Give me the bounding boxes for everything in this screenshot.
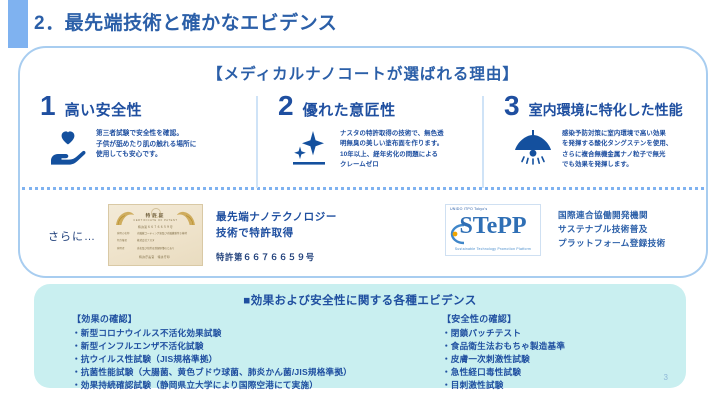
reason-2-body: ナスタの特許取得の技術で、無色透明無臭の美しい塗布面を作ります。10年以上、経年…: [264, 129, 478, 171]
reason-1-text: 第三者試験で安全性を確認。子供が舐めたり肌の触れる場所に使用しても安心です。: [96, 129, 196, 161]
further-label: さらに…: [48, 228, 96, 244]
certificate-row-value: 光触媒コーティング液及び光触媒膜付き基材: [137, 232, 194, 236]
unido-registration-text: 国際連合協働開発機関サステナブル技術普及プラットフォーム登録技術: [558, 208, 666, 251]
certificate-ornament-left: [114, 209, 136, 227]
reason-2-title: 優れた意匠性: [303, 99, 396, 120]
evidence-panel: ■効果および安全性に関する各種エビデンス 【効果の確認】 ・新型コロナウイルス不…: [34, 284, 686, 388]
certificate-row: 特許権者 株式会社ナスタ: [117, 239, 194, 243]
patent-number: 特許第６６７６６５９号: [216, 251, 337, 263]
reason-3-header: 3 室内環境に特化した性能: [490, 92, 700, 120]
reason-3-text: 感染予防対策に室内環境で高い効果を発揮する酸化タングステンを使用、さらに複合無機…: [562, 129, 672, 171]
list-item: ・効果持続確認試験（静岡県立大学により国際空港にて実施）: [72, 379, 404, 392]
reason-card-1: 1 高い安全性 第三者試験で安全性を確認。子供が舐めたり肌の触れる場所に使用して…: [20, 92, 258, 171]
slide-root: 2．最先端技術と確かなエビデンス 【メディカルナノコートが選ばれる理由】 1 高…: [0, 0, 720, 404]
certificate-row: 発明者 氏名及び住所は登録原簿のとおり: [117, 247, 194, 251]
reasons-frame: 【メディカルナノコートが選ばれる理由】 1 高い安全性 第三: [18, 46, 708, 278]
reason-1-number: 1: [40, 92, 56, 120]
stepp-bottom-text: Sustainable Technology Promotion Platfor…: [446, 247, 540, 251]
reason-1-header: 1 高い安全性: [26, 92, 252, 120]
list-item: ・目刺激性試験: [442, 379, 686, 392]
stepp-logo: UNIDO ITPO Tokyo's STePP Sustainable Tec…: [445, 204, 541, 256]
certificate-row-key: 特許権者: [117, 239, 133, 243]
reason-2-text: ナスタの特許取得の技術で、無色透明無臭の美しい塗布面を作ります。10年以上、経年…: [340, 129, 444, 171]
certificate-signature: 特許庁長官 特許庁印: [139, 255, 170, 259]
reason-3-body: 感染予防対策に室内環境で高い効果を発揮する酸化タングステンを使用、さらに複合無機…: [490, 129, 700, 171]
evidence-column-safety: 【安全性の確認】 ・閉鎖パッチテスト ・食品衛生法おもちゃ製造基準 ・皮膚一次刺…: [404, 312, 686, 392]
list-item: ・抗ウイルス性試験（JIS規格準拠）: [72, 353, 404, 366]
dotted-divider: [22, 187, 704, 190]
evidence-safety-heading: 【安全性の確認】: [442, 312, 686, 325]
evidence-efficacy-heading: 【効果の確認】: [72, 312, 404, 325]
heart-in-hand-icon: [40, 129, 96, 165]
reasons-columns: 1 高い安全性 第三者試験で安全性を確認。子供が舐めたり肌の触れる場所に使用して…: [20, 92, 706, 171]
frame-heading: 【メディカルナノコートが選ばれる理由】: [20, 62, 706, 84]
reason-card-3: 3 室内環境に特化した性能 感染予防対策に室内環境で高い効果を発揮する酸化タング…: [484, 92, 706, 171]
certificate-row: 発明の名称 光触媒コーティング液及び光触媒膜付き基材: [117, 232, 194, 236]
patent-text-block: 最先端ナノテクノロジー技術で特許取得 特許第６６７６６５９号: [216, 210, 337, 263]
title-accent-bar: [8, 0, 28, 48]
patent-headline: 最先端ナノテクノロジー技術で特許取得: [216, 210, 337, 242]
reason-3-number: 3: [504, 92, 520, 120]
certificate-row-value: 氏名及び住所は登録原簿のとおり: [137, 247, 194, 251]
reason-2-number: 2: [278, 92, 294, 120]
certificate-ornament-right: [175, 209, 197, 227]
reason-3-title: 室内環境に特化した性能: [529, 100, 683, 120]
list-item: ・閉鎖パッチテスト: [442, 327, 686, 340]
page-number: 3: [664, 373, 668, 382]
evidence-title: ■効果および安全性に関する各種エビデンス: [34, 292, 686, 308]
certificate-row-key: 発明者: [117, 247, 133, 251]
reason-1-body: 第三者試験で安全性を確認。子供が舐めたり肌の触れる場所に使用しても安心です。: [26, 129, 252, 165]
stepp-top-text: UNIDO ITPO Tokyo's: [450, 207, 487, 211]
reason-2-header: 2 優れた意匠性: [264, 92, 478, 120]
list-item: ・新型インフルエンザ不活化試験: [72, 340, 404, 353]
stepp-wordmark: STePP: [446, 213, 540, 240]
page-title: 2．最先端技術と確かなエビデンス: [34, 8, 337, 35]
patent-certificate-image: 特許証 CERTIFICATE OF PATENT 特許第６６７６６５９号 発明…: [108, 204, 203, 266]
reason-card-2: 2 優れた意匠性 ナスタの特許取得の技術で、無色透明無臭の美しい塗布面を作ります…: [258, 92, 484, 171]
certificate-rows: 発明の名称 光触媒コーティング液及び光触媒膜付き基材 特許権者 株式会社ナスタ …: [117, 232, 194, 254]
list-item: ・抗菌性能試験（大腸菌、黄色ブドウ球菌、肺炎かん菌/JIS規格準拠）: [72, 366, 404, 379]
evidence-column-efficacy: 【効果の確認】 ・新型コロナウイルス不活化効果試験 ・新型インフルエンザ不活化試…: [34, 312, 404, 392]
list-item: ・皮膚一次刺激性試験: [442, 353, 686, 366]
list-item: ・新型コロナウイルス不活化効果試験: [72, 327, 404, 340]
certificate-row-key: 発明の名称: [117, 232, 133, 236]
ceiling-lamp-icon: [504, 129, 562, 167]
certificate-row-value: 株式会社ナスタ: [137, 239, 194, 243]
list-item: ・急性経口毒性試験: [442, 366, 686, 379]
sparkle-shine-icon: [278, 129, 340, 169]
reason-1-title: 高い安全性: [65, 99, 143, 120]
further-row: さらに… 特許証 CERTIFICATE OF PATENT 特許第６６７６６５…: [20, 200, 706, 278]
evidence-columns: 【効果の確認】 ・新型コロナウイルス不活化効果試験 ・新型インフルエンザ不活化試…: [34, 312, 686, 392]
list-item: ・食品衛生法おもちゃ製造基準: [442, 340, 686, 353]
